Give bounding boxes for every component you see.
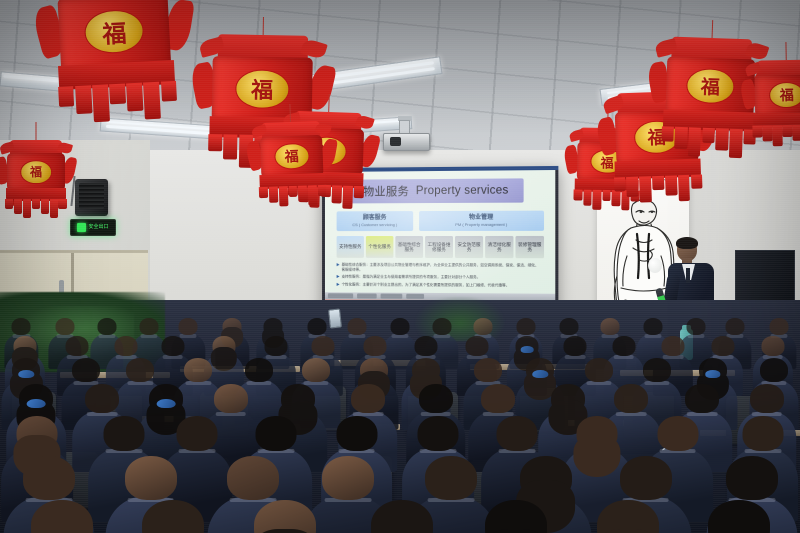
person-head bbox=[66, 336, 89, 356]
slide-bullet: ▶基础性综合服务：主要涉及项目公共物业管理与秩序维护，为全体业主提供的公共服务，… bbox=[337, 263, 542, 273]
running-man-icon bbox=[77, 223, 86, 232]
person-head bbox=[750, 384, 784, 413]
person-head bbox=[264, 336, 287, 356]
lantern-medallion: 福 bbox=[20, 160, 52, 184]
person-head bbox=[348, 318, 367, 335]
person-head bbox=[726, 456, 778, 500]
person-head bbox=[474, 358, 502, 382]
lantern-tassels bbox=[259, 185, 328, 209]
slide-title-cn: 物业服务 bbox=[363, 183, 409, 199]
column-label-cn: 物业管理 bbox=[469, 215, 493, 221]
bullet-marker-icon: ▶ bbox=[337, 263, 340, 273]
lantern-tassels bbox=[5, 199, 67, 219]
person-head bbox=[371, 500, 433, 533]
person-head bbox=[600, 318, 619, 335]
lantern-medallion: 福 bbox=[769, 82, 800, 109]
person-head bbox=[179, 318, 198, 335]
column-label-en: PM ( Property management ) bbox=[455, 222, 507, 226]
person-head bbox=[245, 358, 273, 382]
lantern-body: 福 bbox=[754, 74, 800, 116]
bullet-text: 基础性综合服务：主要涉及项目公共物业管理与秩序维护，为全体业主提供的公共服务，如… bbox=[342, 263, 542, 273]
person-head bbox=[125, 456, 177, 500]
lantern-tassels bbox=[752, 125, 800, 149]
hair-ribbon bbox=[157, 399, 176, 409]
conference-room-photo: 安全出口 物业服务 Property services 顾客服务 CS ( Cu… bbox=[0, 0, 800, 533]
lantern-body: 福 bbox=[57, 0, 171, 70]
hair-ribbon bbox=[27, 399, 46, 409]
lantern-medallion: 福 bbox=[83, 8, 145, 55]
person-head bbox=[564, 336, 587, 356]
person-head bbox=[685, 384, 719, 413]
slide-service-box: 清洁绿化服务 bbox=[485, 236, 513, 258]
person-head bbox=[473, 318, 492, 335]
slide-column-property-management: 物业管理 PM ( Property management ) bbox=[419, 211, 544, 231]
person-head bbox=[161, 336, 184, 356]
person-head bbox=[761, 336, 784, 356]
slide-service-box: 基础性综合服务 bbox=[395, 236, 423, 258]
person-head bbox=[256, 416, 297, 451]
person-head bbox=[711, 336, 734, 356]
hair-ribbon bbox=[705, 370, 720, 378]
person-head bbox=[760, 358, 788, 382]
person-head bbox=[184, 358, 212, 382]
person-head bbox=[620, 456, 672, 500]
exit-sign-label: 安全出口 bbox=[88, 225, 108, 230]
audience-member bbox=[681, 500, 795, 533]
white-balloon bbox=[648, 258, 662, 273]
person-head bbox=[585, 358, 613, 382]
lantern-body: 福 bbox=[260, 135, 324, 177]
lantern-medallion: 福 bbox=[235, 69, 289, 109]
person-head bbox=[98, 318, 117, 335]
person-head bbox=[687, 318, 706, 335]
person-head bbox=[23, 456, 75, 500]
exit-sign: 安全出口 bbox=[70, 219, 116, 236]
person-head bbox=[657, 416, 698, 451]
audience-member bbox=[227, 500, 341, 533]
chinese-lantern: 福 bbox=[51, 0, 179, 123]
presenter-hair bbox=[676, 237, 698, 249]
person-head bbox=[644, 318, 663, 335]
person-head bbox=[227, 456, 279, 500]
hair-ribbon bbox=[19, 370, 34, 378]
slide-service-boxes: 支持性服务个性化服务基础性综合服务工程设备维修服务安全防范服务清洁绿化服务装修管… bbox=[337, 236, 544, 258]
bullet-marker-icon: ▶ bbox=[337, 275, 340, 280]
person-head bbox=[142, 500, 204, 533]
person-head bbox=[465, 336, 488, 356]
lantern-tassels bbox=[57, 81, 179, 126]
lantern-cord bbox=[36, 122, 37, 140]
slide-title-en: Property services bbox=[416, 185, 508, 198]
person-head bbox=[126, 358, 154, 382]
person-head bbox=[302, 358, 330, 382]
hair-ribbon bbox=[532, 370, 547, 378]
person-head bbox=[85, 384, 119, 413]
audience-member bbox=[571, 500, 685, 533]
slide-service-box: 工程设备维修服务 bbox=[425, 236, 453, 258]
person-head bbox=[176, 416, 217, 451]
slide-bullet: ▶支持性服务：是指为满足业主与使用者需求所提供的专项服务，主要针对部分个人服务。 bbox=[337, 275, 542, 281]
person-head bbox=[312, 336, 335, 356]
person-head bbox=[419, 384, 453, 413]
slide-service-box: 安全防范服务 bbox=[455, 236, 483, 258]
chinese-lantern: 福 bbox=[751, 59, 800, 146]
audience-member bbox=[344, 500, 458, 533]
person-head bbox=[308, 318, 327, 335]
person-head bbox=[351, 384, 385, 413]
person-head bbox=[12, 318, 31, 335]
lantern-tassels bbox=[613, 174, 704, 206]
person-head bbox=[425, 456, 477, 500]
person-head bbox=[662, 336, 685, 356]
audience-member bbox=[458, 500, 572, 533]
lantern-medallion: 福 bbox=[686, 68, 735, 104]
person-head bbox=[481, 384, 515, 413]
person-head bbox=[742, 416, 783, 451]
person-head bbox=[214, 384, 248, 413]
person-head bbox=[115, 336, 138, 356]
person-head bbox=[414, 336, 437, 356]
hair-ribbon bbox=[521, 346, 534, 353]
chinese-lantern: 福 bbox=[257, 121, 328, 207]
person-head bbox=[614, 384, 648, 413]
person-head bbox=[708, 500, 770, 533]
person-head bbox=[432, 318, 451, 335]
person-head bbox=[72, 358, 100, 382]
slide-bullet-list: ▶基础性综合服务：主要涉及项目公共物业管理与秩序维护，为全体业主提供的公共服务，… bbox=[337, 263, 542, 291]
person-head bbox=[725, 318, 744, 335]
person-head bbox=[140, 318, 159, 335]
audience-member bbox=[116, 500, 230, 533]
person-head bbox=[103, 416, 144, 451]
person-head bbox=[517, 318, 536, 335]
person-head bbox=[336, 416, 377, 451]
ceiling-projector bbox=[383, 133, 430, 151]
lantern-medallion: 福 bbox=[274, 143, 309, 170]
lantern-tassels bbox=[660, 126, 757, 160]
lantern-body: 福 bbox=[7, 153, 64, 190]
slide-service-box: 支持性服务 bbox=[337, 236, 364, 258]
bullet-marker-icon: ▶ bbox=[337, 282, 340, 287]
wall-speaker bbox=[75, 179, 108, 216]
presenter-tie bbox=[686, 268, 690, 283]
person-head bbox=[55, 318, 74, 335]
bullet-text: 支持性服务：是指为满足业主与使用者需求所提供的专项服务，主要针对部分个人服务。 bbox=[342, 275, 481, 280]
person-head bbox=[496, 416, 537, 451]
person-head bbox=[390, 318, 409, 335]
person-head bbox=[417, 416, 458, 451]
person-head bbox=[770, 318, 789, 335]
person-head bbox=[31, 500, 93, 533]
column-label-cn: 顾客服务 bbox=[363, 215, 387, 221]
column-label-en: CS ( Customer servicing ) bbox=[352, 223, 397, 227]
person-head bbox=[643, 358, 671, 382]
person-head bbox=[364, 336, 387, 356]
slide-service-box: 个性化服务 bbox=[366, 236, 394, 258]
slide-service-box: 装修管理服务 bbox=[515, 236, 544, 258]
audience-member bbox=[5, 500, 119, 533]
person-head bbox=[559, 318, 578, 335]
slide-bullet: ▶个性化服务：主要针对个别业主提出的，为了满足其个性化需要所提供的服务，如上门维… bbox=[337, 282, 542, 288]
slide-title: 物业服务 Property services bbox=[348, 178, 523, 203]
chinese-lantern: 福 bbox=[5, 140, 67, 218]
person-head bbox=[612, 336, 635, 356]
bullet-text: 个性化服务：主要针对个别业主提出的，为了满足其个性化需要所提供的服务，如上门维修… bbox=[342, 282, 510, 288]
slide-column-customer-service: 顾客服务 CS ( Customer servicing ) bbox=[337, 211, 414, 231]
person-head bbox=[322, 456, 374, 500]
